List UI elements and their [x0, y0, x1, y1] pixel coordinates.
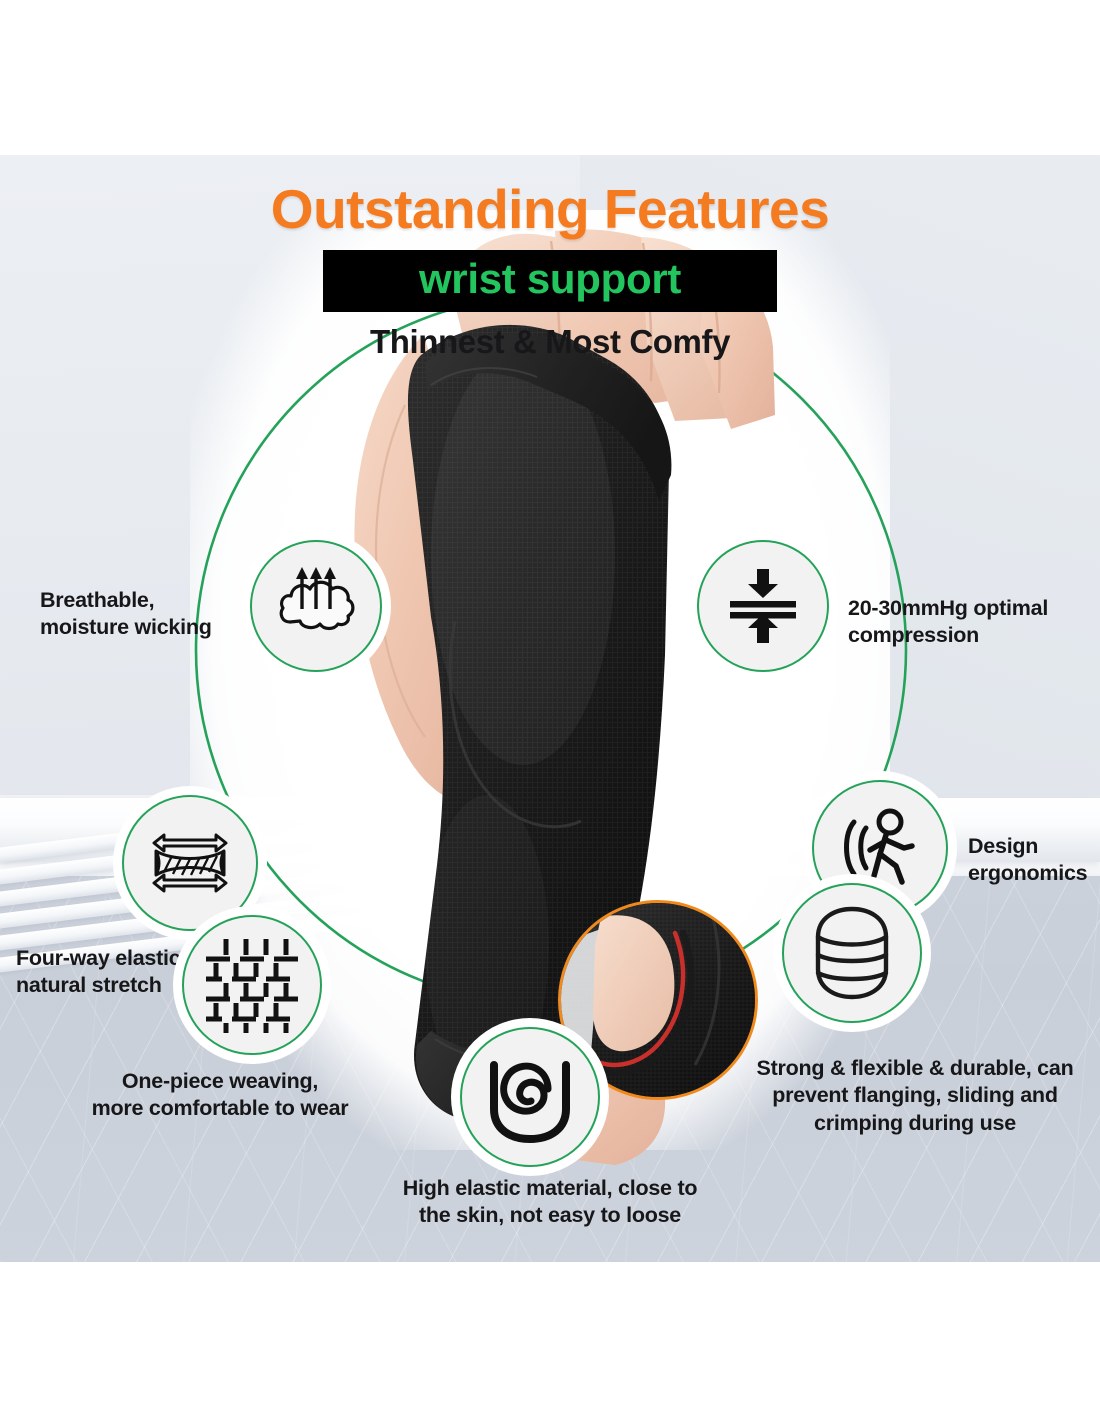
- feature-bubble-four-way-elastic[interactable]: [122, 795, 258, 931]
- walking-figure-motion-icon: [834, 802, 926, 894]
- caption-line: more comfortable to wear: [50, 1095, 390, 1122]
- caption-compression: 20-30mmHg optimal compression: [848, 595, 1068, 650]
- header: Outstanding Features wrist support Thinn…: [0, 155, 1100, 361]
- caption-breathable: Breathable, moisture wicking: [40, 587, 255, 642]
- caption-line: prevent flanging, sliding and: [740, 1082, 1090, 1109]
- caption-ergonomics: Design ergonomics: [968, 833, 1098, 888]
- caption-line: One-piece weaving,: [50, 1068, 390, 1095]
- content-canvas: Breathable, moisture wicking 20-30mmHg o…: [0, 155, 1100, 1262]
- banner-text: wrist support: [419, 255, 681, 302]
- compression-arrows-icon: [722, 565, 804, 647]
- spiral-basin-icon: [480, 1047, 580, 1147]
- caption-durability: Strong & flexible & durable, can prevent…: [740, 1055, 1090, 1137]
- caption-line: crimping during use: [740, 1110, 1090, 1137]
- banner-highlight: wrist support: [323, 250, 777, 312]
- caption-line: High elastic material, close to: [370, 1175, 730, 1202]
- woven-fabric-icon: [202, 935, 302, 1035]
- feature-bubble-compression[interactable]: [697, 540, 829, 672]
- infographic-page: Breathable, moisture wicking 20-30mmHg o…: [0, 0, 1100, 1422]
- caption-one-piece-weaving: One-piece weaving, more comfortable to w…: [50, 1068, 390, 1123]
- page-title: Outstanding Features: [0, 177, 1100, 241]
- caption-line: Design: [968, 833, 1098, 860]
- feature-bubble-breathable[interactable]: [250, 540, 382, 672]
- caption-line: ergonomics: [968, 860, 1098, 887]
- caption-line: moisture wicking: [40, 614, 255, 641]
- caption-line: compression: [848, 622, 1068, 649]
- caption-line: 20-30mmHg optimal: [848, 595, 1068, 622]
- caption-line: Strong & flexible & durable, can: [740, 1055, 1090, 1082]
- four-way-stretch-icon: [142, 815, 238, 911]
- caption-line: the skin, not easy to loose: [370, 1202, 730, 1229]
- page-subtitle: Thinnest & Most Comfy: [0, 323, 1100, 361]
- feature-bubble-high-elastic[interactable]: [460, 1027, 600, 1167]
- ribbed-dome-icon: [802, 903, 902, 1003]
- feature-bubble-durability[interactable]: [782, 883, 922, 1023]
- caption-line: Breathable,: [40, 587, 255, 614]
- caption-high-elastic: High elastic material, close to the skin…: [370, 1175, 730, 1230]
- feature-bubble-one-piece-weaving[interactable]: [182, 915, 322, 1055]
- cloud-up-arrows-icon: [274, 564, 358, 648]
